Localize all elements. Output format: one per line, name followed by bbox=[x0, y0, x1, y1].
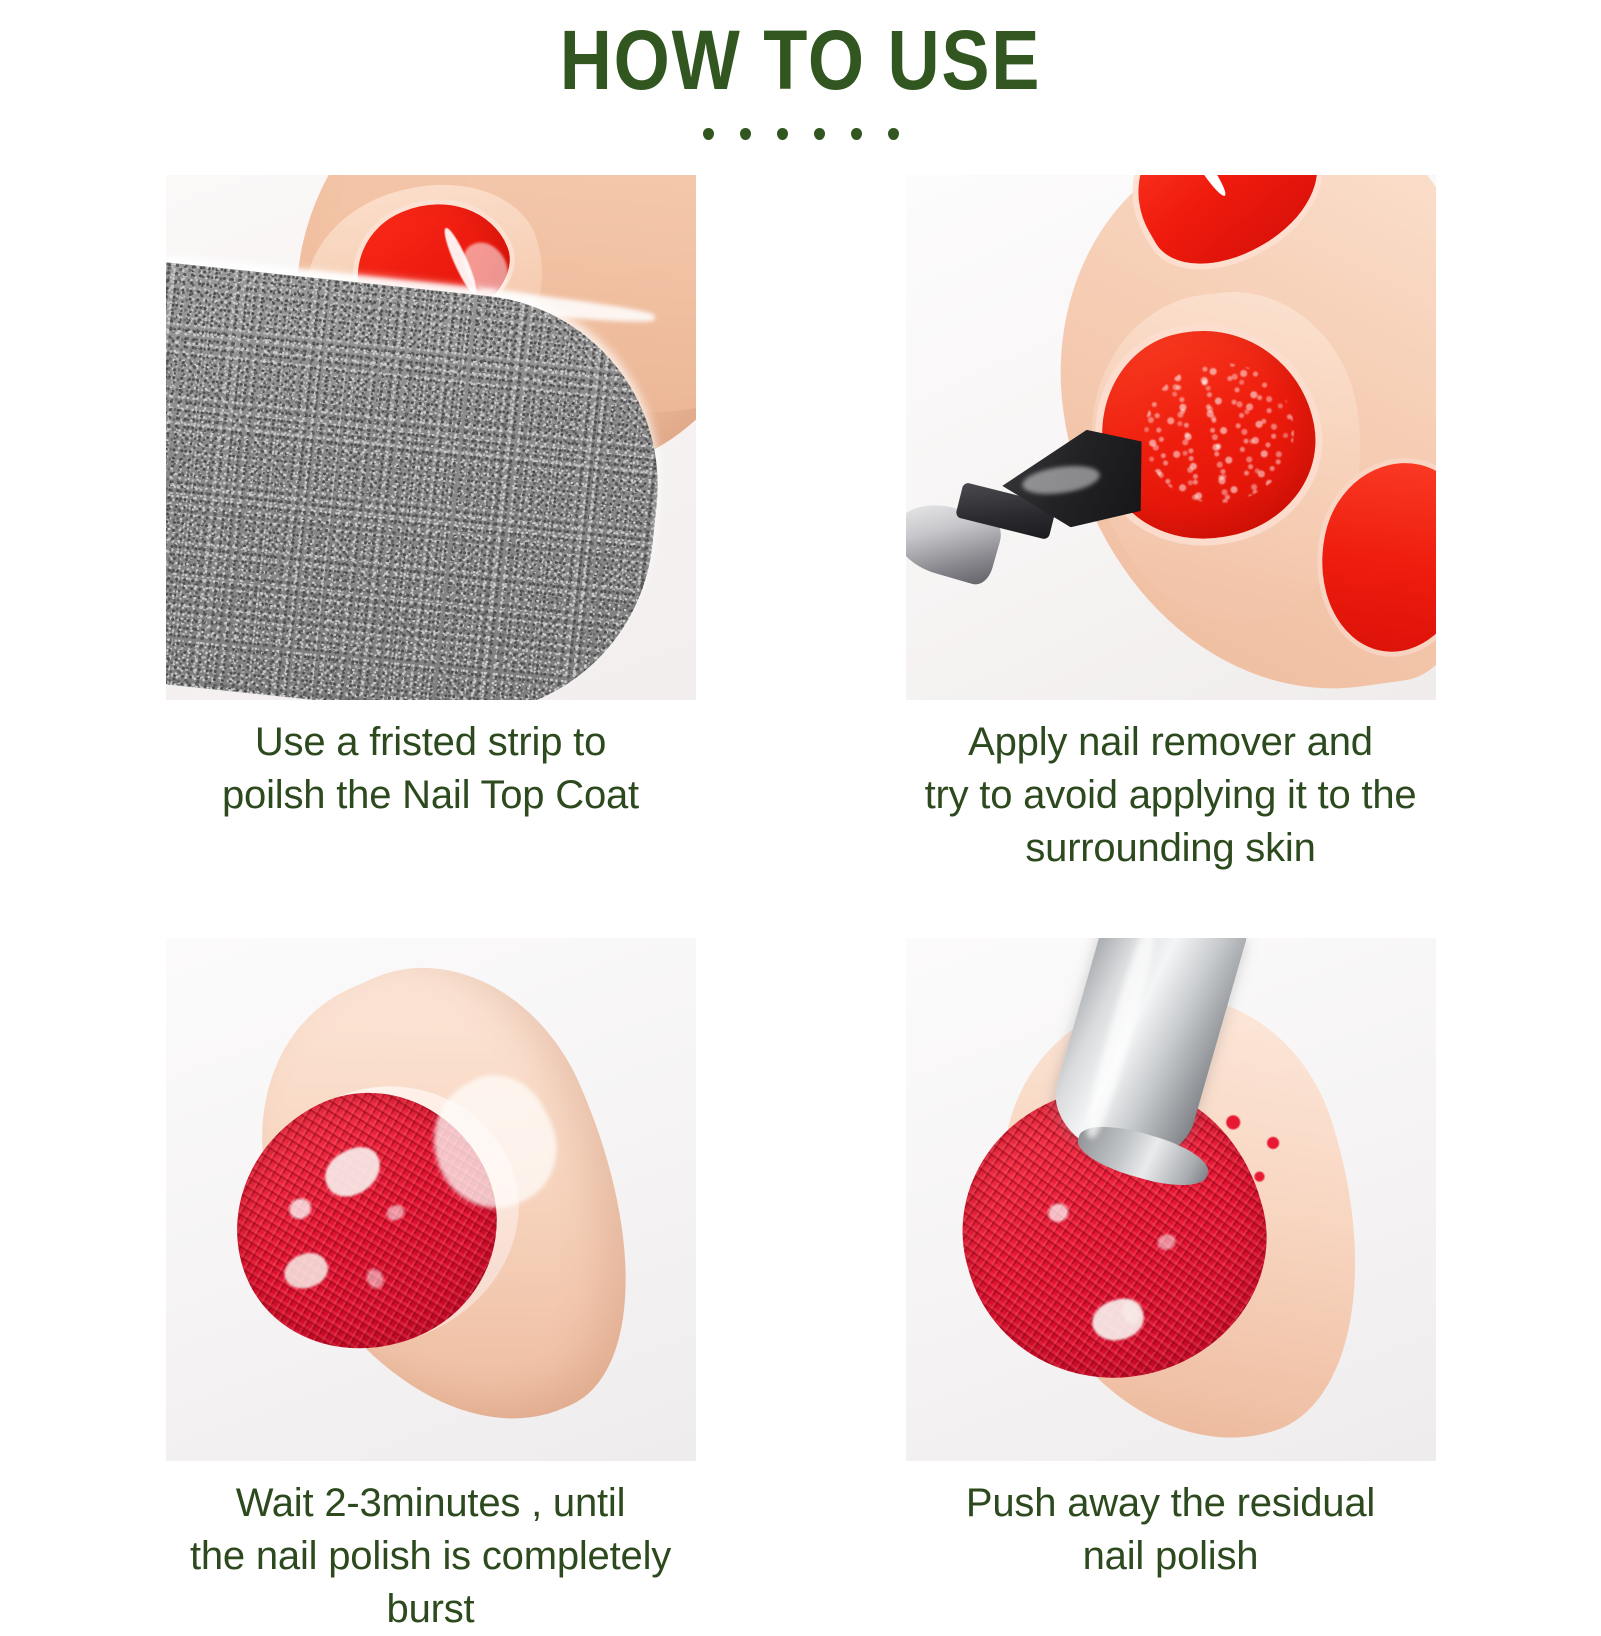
divider-dot bbox=[814, 128, 825, 140]
steps-grid: Use a fristed strip to poilsh the Nail T… bbox=[0, 175, 1601, 1636]
header: HOW TO USE bbox=[0, 0, 1601, 140]
divider-dot bbox=[851, 128, 862, 140]
step-4-caption: Push away the residual nail polish bbox=[906, 1477, 1436, 1583]
divider-dot bbox=[777, 128, 788, 140]
page-title: HOW TO USE bbox=[112, 18, 1489, 102]
step-2: Apply nail remover and try to avoid appl… bbox=[906, 175, 1436, 874]
nail-remover-brush-photo bbox=[906, 175, 1436, 700]
frosted-strip-photo bbox=[166, 175, 696, 700]
step-1: Use a fristed strip to poilsh the Nail T… bbox=[166, 175, 696, 874]
divider-dots bbox=[0, 128, 1601, 140]
steps-row-top: Use a fristed strip to poilsh the Nail T… bbox=[0, 175, 1601, 874]
divider-dot bbox=[888, 128, 899, 140]
step-2-caption: Apply nail remover and try to avoid appl… bbox=[906, 716, 1436, 874]
steps-row-bottom: Wait 2-3minutes , until the nail polish … bbox=[0, 938, 1601, 1635]
step-3-caption: Wait 2-3minutes , until the nail polish … bbox=[166, 1477, 696, 1635]
step-3: Wait 2-3minutes , until the nail polish … bbox=[166, 938, 696, 1635]
step-1-caption: Use a fristed strip to poilsh the Nail T… bbox=[166, 716, 696, 822]
divider-dot bbox=[740, 128, 751, 140]
step-4: Push away the residual nail polish bbox=[906, 938, 1436, 1635]
pusher-photo bbox=[906, 938, 1436, 1461]
divider-dot bbox=[703, 128, 714, 140]
burst-polish-photo bbox=[166, 938, 696, 1461]
